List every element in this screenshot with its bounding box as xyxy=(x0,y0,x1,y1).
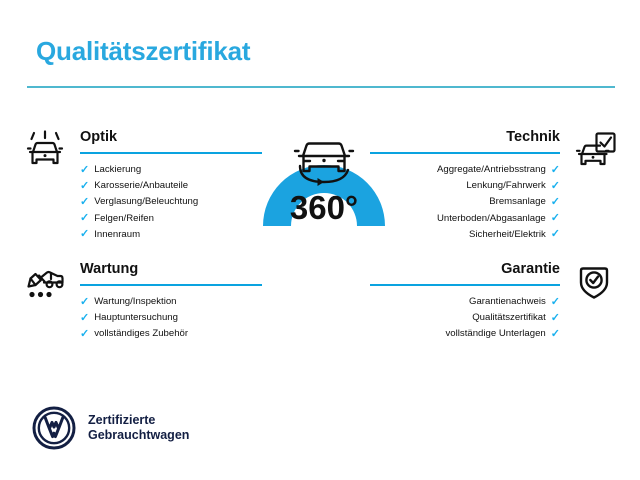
list-item: vollständige Unterlagen✓ xyxy=(370,326,560,342)
list-item: ✓Hauptuntersuchung xyxy=(80,310,262,326)
certificate-page: Qualitätszertifikat xyxy=(0,0,640,480)
list-item-label: Qualitätszertifikat xyxy=(472,310,546,326)
check-icon: ✓ xyxy=(80,181,89,192)
list-item: ✓Verglasung/Beleuchtung xyxy=(80,194,262,210)
section-wartung: Wartung ✓Wartung/Inspektion ✓Hauptunters… xyxy=(22,262,262,343)
check-icon: ✓ xyxy=(551,297,560,308)
list-item-label: Garantienachweis xyxy=(469,294,546,310)
check-icon: ✓ xyxy=(80,165,89,176)
list-item-label: Unterboden/Abgasanlage xyxy=(437,211,546,227)
check-icon: ✓ xyxy=(551,329,560,340)
check-icon: ✓ xyxy=(551,181,560,192)
list-item: ✓Karosserie/Anbauteile xyxy=(80,178,262,194)
list-item: ✓Innenraum xyxy=(80,227,262,243)
list-item-label: Hauptuntersuchung xyxy=(94,310,178,326)
page-title: Qualitätszertifikat xyxy=(36,36,250,67)
list-item-label: vollständige Unterlagen xyxy=(446,326,546,342)
list-item: Qualitätszertifikat✓ xyxy=(370,310,560,326)
volkswagen-logo xyxy=(32,406,76,450)
list-item-label: vollständiges Zubehör xyxy=(94,326,188,342)
section-optik: Optik ✓Lackierung ✓Karosserie/Anbauteile… xyxy=(22,130,262,243)
car-front-shine-icon xyxy=(22,130,68,172)
section-divider-wartung xyxy=(80,284,262,286)
checklist-optik: ✓Lackierung ✓Karosserie/Anbauteile ✓Verg… xyxy=(80,162,262,243)
list-item-label: Felgen/Reifen xyxy=(94,211,154,227)
badge-360-gebrauchtwagen-check: Gebrauchtwagen-Check 360° xyxy=(245,122,403,304)
list-item: ✓Wartung/Inspektion xyxy=(80,294,262,310)
list-item-label: Lenkung/Fahrwerk xyxy=(466,178,545,194)
list-item-label: Karosserie/Anbauteile xyxy=(94,178,188,194)
check-icon: ✓ xyxy=(80,297,89,308)
section-garantie: Garantie Garantienachweis✓ Qualitätszert… xyxy=(370,262,618,343)
check-icon: ✓ xyxy=(551,213,560,224)
list-item-label: Bremsanlage xyxy=(489,194,546,210)
shield-check-icon xyxy=(572,262,618,304)
footer-line-1: Zertifizierte xyxy=(88,413,189,428)
badge-arc-label: Gebrauchtwagen-Check xyxy=(259,228,389,292)
check-icon: ✓ xyxy=(551,165,560,176)
check-icon: ✓ xyxy=(80,329,89,340)
footer-line-2: Gebrauchtwagen xyxy=(88,428,189,443)
check-icon: ✓ xyxy=(80,213,89,224)
check-icon: ✓ xyxy=(80,313,89,324)
checklist-wartung: ✓Wartung/Inspektion ✓Hauptuntersuchung ✓… xyxy=(80,294,262,343)
section-divider-optik xyxy=(80,152,262,154)
footer-text: Zertifizierte Gebrauchtwagen xyxy=(88,413,189,443)
list-item-label: Verglasung/Beleuchtung xyxy=(94,194,198,210)
footer-brand: Zertifizierte Gebrauchtwagen xyxy=(32,406,189,450)
list-item: ✓vollständiges Zubehör xyxy=(80,326,262,342)
car-service-pen-icon xyxy=(22,262,68,304)
check-icon: ✓ xyxy=(551,313,560,324)
check-icon: ✓ xyxy=(551,197,560,208)
section-technik: Technik Aggregate/Antriebsstrang✓ Lenkun… xyxy=(370,130,618,243)
list-item-label: Innenraum xyxy=(94,227,140,243)
section-title-optik: Optik xyxy=(80,130,262,152)
section-title-wartung: Wartung xyxy=(80,262,262,284)
check-icon: ✓ xyxy=(80,197,89,208)
badge-center-label: 360° xyxy=(290,189,358,226)
list-item-label: Lackierung xyxy=(94,162,141,178)
check-icon: ✓ xyxy=(80,229,89,240)
list-item: ✓Felgen/Reifen xyxy=(80,211,262,227)
list-item-label: Aggregate/Antriebsstrang xyxy=(437,162,546,178)
check-icon: ✓ xyxy=(551,229,560,240)
list-item-label: Wartung/Inspektion xyxy=(94,294,176,310)
car-front-checkbox-icon xyxy=(572,130,618,172)
list-item-label: Sicherheit/Elektrik xyxy=(469,227,546,243)
header-divider xyxy=(27,86,615,88)
list-item: ✓Lackierung xyxy=(80,162,262,178)
